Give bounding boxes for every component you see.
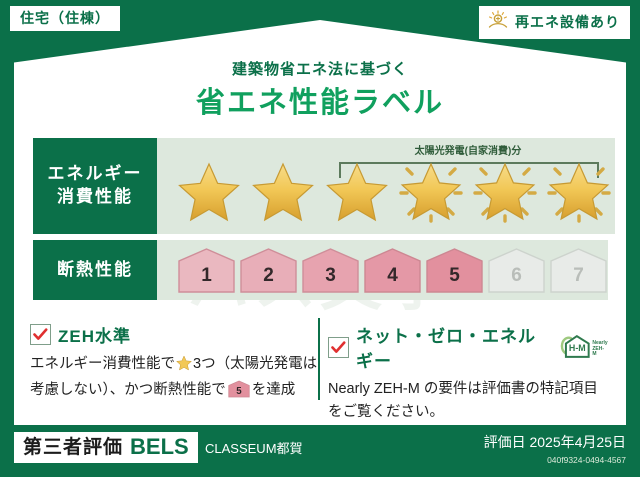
insulation-grade-4: 4	[363, 247, 422, 294]
energy-star-solar-6	[543, 158, 615, 226]
net-zero-energy-block: ネット・ゼロ・エネルギー H-M Nearly ZEH-M Nearly ZEH…	[328, 322, 608, 424]
third-party-eval-label: 第三者評価	[23, 438, 123, 457]
zeh-body-star-count: 3つ	[193, 356, 216, 372]
svg-text:H-M: H-M	[569, 343, 586, 353]
insulation-grade-3-value: 3	[325, 265, 336, 294]
energy-star-2	[247, 158, 319, 226]
zeh-m-caption-line2: ZEH-M	[592, 346, 604, 358]
solar-portion-caption: 太陽光発電(自家消費)分	[335, 142, 601, 157]
net-zero-energy-body: Nearly ZEH-M の要件は評価書の特記項目をご覧ください。	[328, 378, 608, 424]
net-zero-energy-title: ネット・ゼロ・エネルギー	[356, 322, 550, 372]
energy-star-1	[173, 158, 245, 226]
zeh-m-logo-caption: Nearly ZEH-M	[592, 341, 608, 361]
renewable-equipment-chip: 再エネ設備あり	[479, 6, 630, 39]
insulation-grade-5-value: 5	[449, 265, 460, 294]
energy-label-line1: エネルギー	[48, 163, 143, 186]
insulation-grade-2-value: 2	[263, 265, 274, 294]
insulation-performance-row-body: 1 2 3 4 5	[157, 240, 608, 300]
insulation-performance-row-label: 断熱性能	[33, 240, 157, 300]
evaluation-id: 040f9324-0494-4567	[484, 455, 626, 465]
insulation-grade-6-value: 6	[511, 265, 522, 294]
energy-star-solar-5	[469, 158, 541, 226]
insulation-grade-4-value: 4	[387, 265, 398, 294]
solar-sun-icon	[487, 10, 509, 34]
evaluation-date: 評価日 2025年4月25日	[484, 432, 626, 452]
insulation-grade-7-value: 7	[573, 265, 584, 294]
zeh-body-part3: を達成	[252, 382, 296, 398]
zeh-body-part1: エネルギー消費性能で	[30, 356, 175, 372]
energy-label-line2: 消費性能	[57, 186, 133, 209]
label-title: 省エネ性能ラベル	[0, 79, 640, 121]
energy-performance-row-body: 太陽光発電(自家消費)分	[157, 138, 615, 234]
insulation-grade-1: 1	[177, 247, 236, 294]
zeh-standard-body: エネルギー消費性能で3つ（太陽光発電は考慮しない）、かつ断熱性能で5を達成	[30, 353, 320, 406]
energy-performance-row-label: エネルギー 消費性能	[33, 138, 157, 234]
inline-star-icon	[176, 355, 192, 379]
bels-certification-box: 第三者評価 BELS	[14, 432, 198, 463]
inline-grade-badge: 5	[228, 380, 250, 406]
insulation-label: 断熱性能	[57, 259, 133, 282]
energy-performance-row: エネルギー 消費性能 太陽光発電(自家消費)分	[33, 138, 607, 234]
insulation-grade-3: 3	[301, 247, 360, 294]
energy-star-rating	[157, 158, 615, 226]
zeh-standard-header: ZEH水準	[30, 322, 320, 347]
svg-text:5: 5	[236, 386, 242, 397]
evaluation-info: 評価日 2025年4月25日 040f9324-0494-4567	[484, 432, 626, 465]
label-subtitle: 建築物省エネ法に基づく	[0, 58, 640, 79]
energy-star-solar-4	[395, 158, 467, 226]
energy-star-3	[321, 158, 393, 226]
insulation-grade-6: 6	[487, 247, 546, 294]
zeh-m-logo: H-M Nearly ZEH-M	[559, 333, 608, 361]
evaluation-date-value: 2025年4月25日	[529, 434, 626, 450]
insulation-performance-row: 断熱性能 1 2 3 4	[33, 240, 607, 300]
insulation-grade-1-value: 1	[201, 265, 212, 294]
building-type-chip: 住宅（住棟）	[10, 6, 120, 31]
zeh-standard-block: ZEH水準 エネルギー消費性能で3つ（太陽光発電は考慮しない）、かつ断熱性能で5…	[30, 322, 320, 406]
insulation-grade-7: 7	[549, 247, 608, 294]
bels-logo-text: BELS	[130, 436, 189, 458]
insulation-grade-5: 5	[425, 247, 484, 294]
insulation-grade-scale: 1 2 3 4 5	[157, 247, 608, 294]
net-zero-energy-header: ネット・ゼロ・エネルギー H-M Nearly ZEH-M	[328, 322, 608, 372]
energy-performance-label: パス文字 住宅（住棟） 再エネ設備あり 建築物省エネ法に基づく 省エネ性能ラベル	[0, 0, 640, 477]
insulation-grade-2: 2	[239, 247, 298, 294]
evaluation-date-label: 評価日	[484, 434, 526, 450]
check-icon	[30, 324, 51, 345]
zeh-standard-title: ZEH水準	[58, 322, 131, 347]
property-name: CLASSEUM都賀	[205, 438, 303, 457]
building-type-label: 住宅（住棟）	[20, 10, 110, 26]
check-icon	[328, 337, 349, 358]
renewable-equipment-label: 再エネ設備あり	[515, 15, 620, 29]
